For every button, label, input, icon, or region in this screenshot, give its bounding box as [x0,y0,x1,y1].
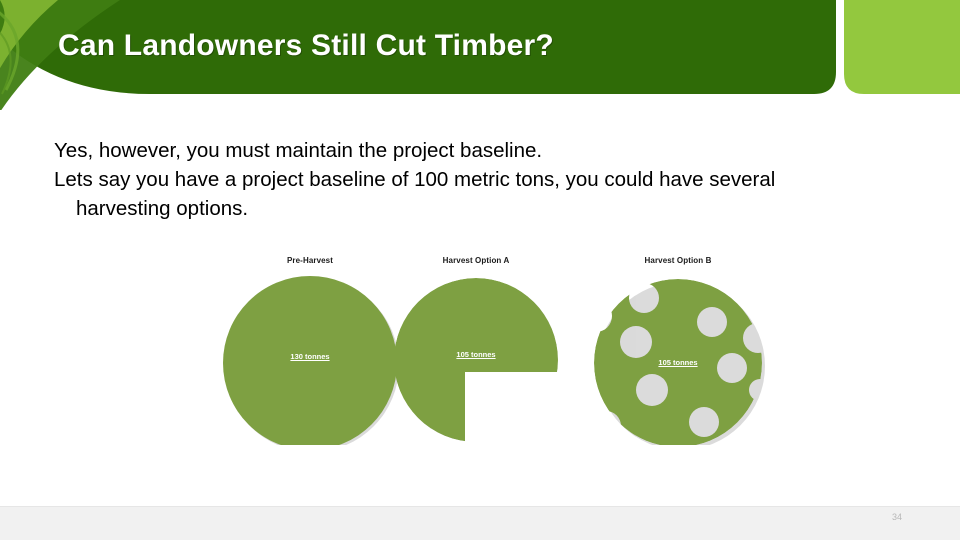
shape-value-harvest-option-a: 105 tonnes [426,350,526,359]
shape-value-pre-harvest: 130 tonnes [260,352,360,361]
page-number: 34 [892,512,902,522]
shape-caption-harvest-option-b: Harvest Option B [628,256,728,265]
shape-caption-pre-harvest: Pre-Harvest [260,256,360,265]
page-title: Can Landowners Still Cut Timber? [58,26,818,66]
body-line-1: Yes, however, you must maintain the proj… [54,136,934,165]
body-line-2b: harvesting options. [54,194,934,223]
body-line-2a: Lets say you have a project baseline of … [54,168,775,191]
body-line-2: Lets say you have a project baseline of … [54,165,934,223]
slide-header: Can Landowners Still Cut Timber? [0,0,960,105]
shape-caption-harvest-option-a: Harvest Option A [426,256,526,265]
slide-footer [0,506,960,540]
shape-value-harvest-option-b: 105 tonnes [628,358,728,367]
harvest-diagram: Pre-Harvest Harvest Option A Harvest Opt… [200,250,780,445]
slide-body-text: Yes, however, you must maintain the proj… [54,136,934,223]
slide: Can Landowners Still Cut Timber? Yes, ho… [0,0,960,540]
header-accent-block [844,0,960,94]
harvest-diagram-graphic [200,250,780,445]
shape-harvest-option-a-circle [394,278,558,442]
